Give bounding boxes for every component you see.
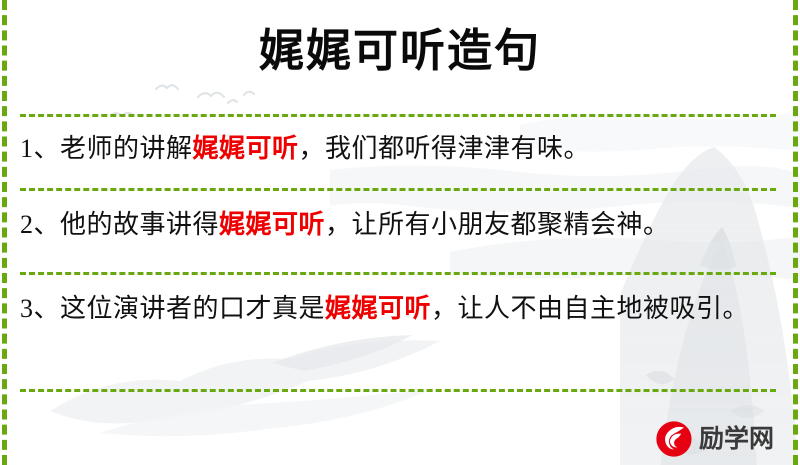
site-logo[interactable]: 励学网 (655, 418, 774, 460)
divider-rule-3 (20, 272, 776, 275)
ink-cloud-bottom-watermark (40, 315, 460, 455)
sentence-number-2: 2、 (20, 210, 60, 239)
divider-rule-2 (20, 188, 776, 191)
left-dashed-border (2, 0, 7, 465)
sentence-text-after-3: ，让人不由自主地被吸引。 (431, 294, 749, 323)
idiom-highlight-1: 娓娓可听 (193, 134, 299, 163)
sentence-number-3: 3、 (20, 294, 60, 323)
divider-rule-4 (20, 389, 776, 392)
sentence-item-3: 3、这位演讲者的口才真是娓娓可听，让人不由自主地被吸引。 (20, 287, 760, 331)
idiom-highlight-2: 娓娓可听 (219, 210, 325, 239)
page-canvas: 娓娓可听造句 1、老师的讲解娓娓可听，我们都听得津津有味。 2、他的故事讲得娓娓… (0, 0, 800, 465)
divider-rule-1 (20, 114, 776, 117)
sentence-item-2: 2、他的故事讲得娓娓可听，让所有小朋友都聚精会神。 (20, 203, 770, 247)
sentence-text-after-1: ，我们都听得津津有味。 (299, 134, 591, 163)
sentence-item-1: 1、老师的讲解娓娓可听，我们都听得津津有味。 (20, 127, 770, 171)
sentence-text-after-2: ，让所有小朋友都聚精会神。 (325, 210, 670, 239)
page-title: 娓娓可听造句 (0, 22, 800, 80)
sentence-text-before-2: 他的故事讲得 (60, 210, 219, 239)
sentence-text-before-1: 老师的讲解 (60, 134, 193, 163)
logo-brand-text: 励学网 (699, 427, 774, 452)
swirl-flame-icon (655, 420, 693, 458)
right-dashed-border (793, 0, 798, 465)
sentence-text-before-3: 这位演讲者的口才真是 (60, 294, 325, 323)
idiom-highlight-3: 娓娓可听 (325, 294, 431, 323)
sentence-number-1: 1、 (20, 134, 60, 163)
